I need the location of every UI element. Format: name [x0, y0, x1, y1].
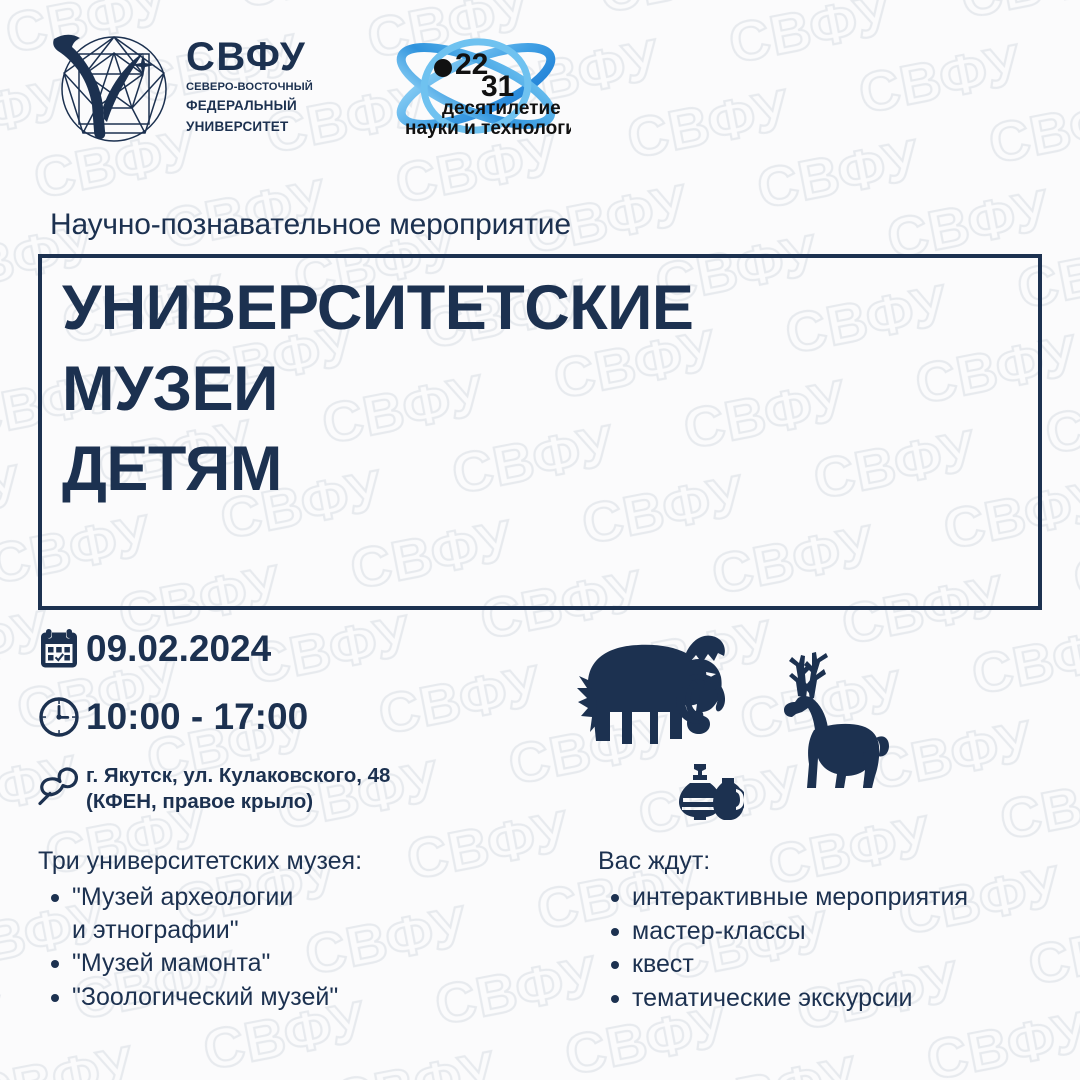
- map-pin-icon: [32, 758, 86, 814]
- svfu-diamond-bird-icon: [46, 27, 172, 145]
- nucleus-dot: [434, 59, 452, 77]
- page-title: УНИВЕРСИТЕТСКИЕ МУЗЕИ ДЕТЯМ: [62, 268, 693, 510]
- svfu-abbr: СВФУ: [186, 37, 313, 77]
- svfu-logo: СВФУ СЕВЕРО-ВОСТОЧНЫЙ ФЕДЕРАЛЬНЫЙ УНИВЕР…: [46, 27, 313, 145]
- list-item: "Музей мамонта": [72, 947, 558, 980]
- logo-row: СВФУ СЕВЕРО-ВОСТОЧНЫЙ ФЕДЕРАЛЬНЫЙ УНИВЕР…: [46, 26, 571, 146]
- bottom-lists: Три университетских музея: "Музей археол…: [0, 846, 1080, 1046]
- event-date: 09.02.2024: [86, 622, 271, 676]
- svfu-wordmark: СВФУ СЕВЕРО-ВОСТОЧНЫЙ ФЕДЕРАЛЬНЫЙ УНИВЕР…: [186, 37, 313, 135]
- clock-icon: [32, 690, 86, 744]
- museums-column: Три университетских музея: "Музей археол…: [38, 846, 558, 1014]
- list-item: "Музей археологии и этнографии": [72, 881, 558, 946]
- title-box: УНИВЕРСИТЕТСКИЕ МУЗЕИ ДЕТЯМ: [38, 254, 1042, 610]
- list-item: "Зоологический музей": [72, 981, 558, 1014]
- museums-heading: Три университетских музея:: [38, 846, 558, 877]
- svfu-line2: ФЕДЕРАЛЬНЫЙ: [186, 97, 313, 114]
- detail-place-row: г. Якутск, ул. Кулаковского, 48 (КФЕН, п…: [32, 758, 552, 815]
- detail-time-row: 10:00 - 17:00: [32, 690, 552, 744]
- decade-of-science-logo: 22 31 десятилетие науки и технологий: [381, 30, 571, 142]
- list-item: мастер-классы: [632, 915, 1068, 948]
- detail-date-row: 09.02.2024: [32, 622, 552, 676]
- event-kicker: Научно-познавательное мероприятие: [50, 208, 571, 242]
- svfu-line3: УНИВЕРСИТЕТ: [186, 118, 313, 135]
- decade-line2: науки и технологий: [405, 118, 571, 139]
- calendar-icon: [32, 622, 86, 676]
- event-time: 10:00 - 17:00: [86, 690, 308, 744]
- decade-line1: десятилетие: [442, 98, 561, 119]
- activities-column: Вас ждут: интерактивные мероприятия маст…: [598, 846, 1068, 1015]
- activities-list: интерактивные мероприятия мастер-классы …: [598, 881, 1068, 1014]
- event-place: г. Якутск, ул. Кулаковского, 48 (КФЕН, п…: [86, 758, 390, 815]
- list-item: квест: [632, 948, 1068, 981]
- poster-root: СВФУ СВФУ СВФУ: [0, 0, 1080, 1080]
- activities-heading: Вас ждут:: [598, 846, 1068, 877]
- list-item: тематические экскурсии: [632, 982, 1068, 1015]
- list-item: интерактивные мероприятия: [632, 881, 1068, 914]
- museums-list: "Музей археологии и этнографии" "Музей м…: [38, 881, 558, 1013]
- event-details: 09.02.2024: [32, 622, 552, 815]
- svfu-line1: СЕВЕРО-ВОСТОЧНЫЙ: [186, 80, 313, 94]
